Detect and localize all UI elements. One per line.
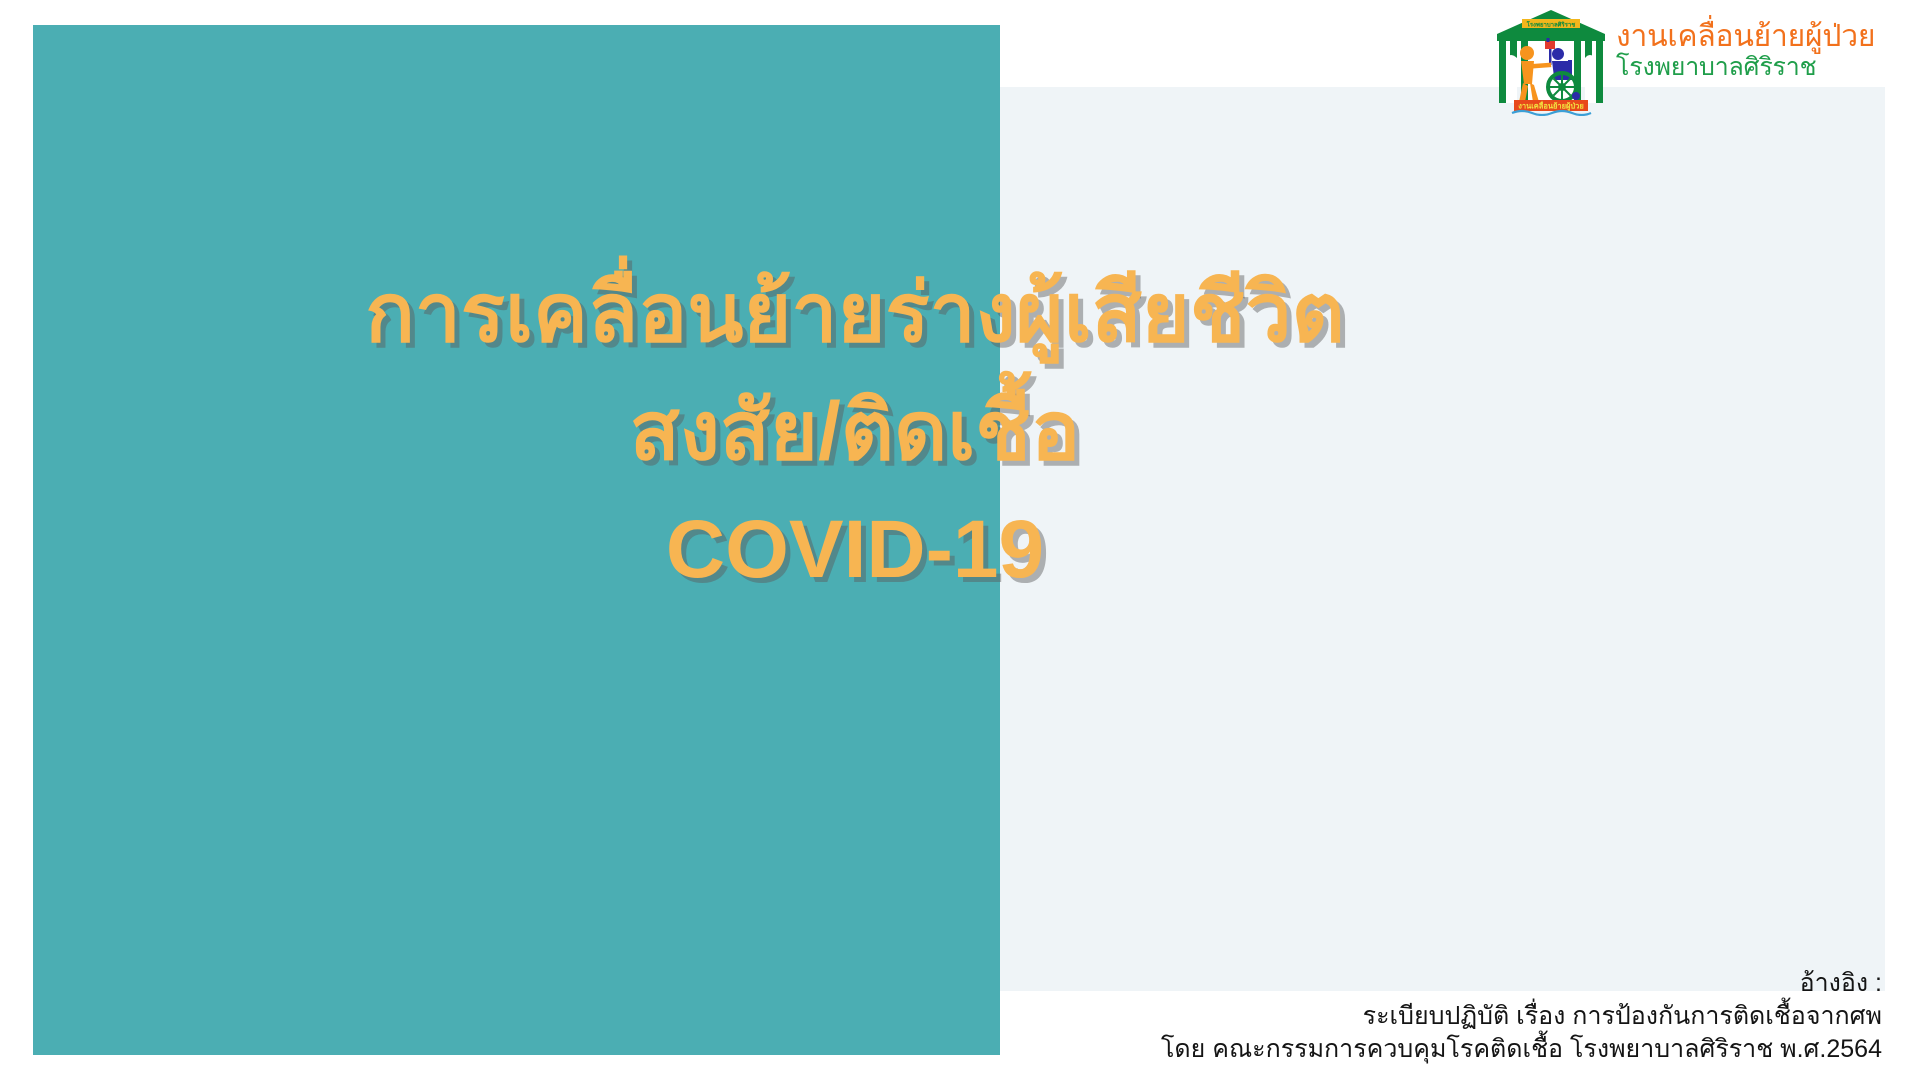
title-line-3: COVID-19	[100, 491, 1610, 609]
reference-label: อ้างอิง :	[1161, 967, 1882, 1000]
svg-text:โรงพยาบาลศิริราช: โรงพยาบาลศิริราช	[1526, 21, 1576, 29]
logo-subtitle-line: โรงพยาบาลศิริราช	[1616, 55, 1875, 80]
reference-line-1: ระเบียบปฏิบัติ เรื่อง การป้องกันการติดเช…	[1161, 1000, 1882, 1033]
slide-title: การเคลื่อนย้ายร่างผู้เสียชีวิต สงสัย/ติด…	[100, 255, 1610, 609]
reference-block: อ้างอิง : ระเบียบปฏิบัติ เรื่อง การป้องก…	[1161, 967, 1882, 1066]
logo-text-block: งานเคลื่อนย้ายผู้ป่วย โรงพยาบาลศิริราช	[1616, 8, 1875, 80]
logo-title-line: งานเคลื่อนย้ายผู้ป่วย	[1616, 22, 1875, 52]
svg-text:งานเคลื่อนย้ายผู้ป่วย: งานเคลื่อนย้ายผู้ป่วย	[1518, 100, 1584, 112]
siriraj-transport-logo-icon: โรงพยาบาลศิริราช	[1492, 8, 1610, 116]
slide-root: โรงพยาบาลศิริราช	[0, 0, 1920, 1080]
title-line-1: การเคลื่อนย้ายร่างผู้เสียชีวิต	[100, 255, 1610, 373]
title-line-2: สงสัย/ติดเชื้อ	[100, 373, 1610, 491]
reference-line-2: โดย คณะกรรมการควบคุมโรคติดเชื้อ โรงพยาบา…	[1161, 1033, 1882, 1066]
organization-logo: โรงพยาบาลศิริราช	[1492, 8, 1912, 118]
